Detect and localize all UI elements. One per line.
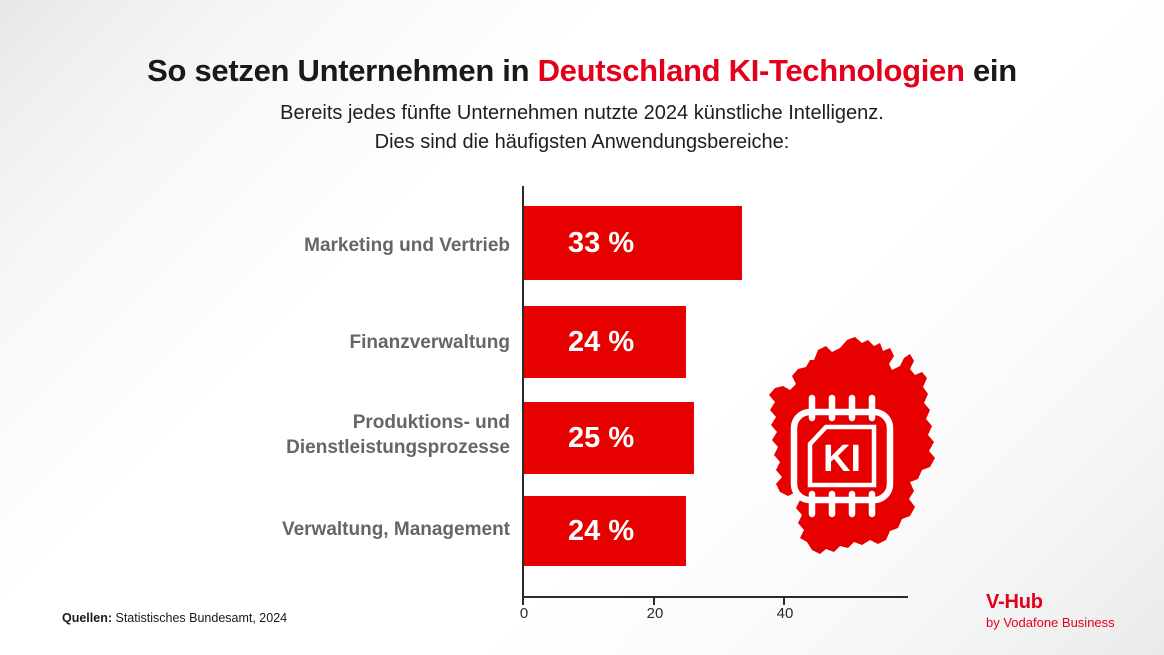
germany-map-ai-chip-illustration: KI bbox=[752, 334, 948, 569]
bar-value-verwaltung-management: 24 % bbox=[568, 515, 634, 548]
bar-value-finanzverwaltung: 24 % bbox=[568, 326, 634, 359]
logo-title: V-Hub bbox=[986, 591, 1136, 614]
bar-label-finanzverwaltung: Finanzverwaltung bbox=[350, 330, 510, 355]
bar-label-produktions-und-dienstleistungsprozesse: Produktions- und Dienstleistungsprozesse bbox=[286, 410, 510, 460]
bar-label-verwaltung-management: Verwaltung, Management bbox=[282, 517, 510, 542]
source-text: Statistisches Bundesamt, 2024 bbox=[112, 611, 287, 625]
germany-map-icon: KI bbox=[752, 334, 948, 569]
bar-finanzverwaltung: 24 % bbox=[524, 306, 686, 378]
bar-chart: 0 20 40 Marketing und Vertrieb 33 % Fina… bbox=[0, 0, 1164, 655]
x-tick-label-40: 40 bbox=[777, 605, 794, 622]
bar-produktions-und-dienstleistungsprozesse: 25 % bbox=[524, 402, 694, 474]
bar-marketing-und-vertrieb: 33 % bbox=[524, 206, 742, 280]
source-label: Quellen: bbox=[62, 611, 112, 625]
bar-value-produktions-und-dienstleistungsprozesse: 25 % bbox=[568, 422, 634, 455]
x-tick-label-0: 0 bbox=[520, 605, 528, 622]
ai-chip-label: KI bbox=[823, 438, 861, 480]
logo-subtitle: by Vodafone Business bbox=[986, 614, 1136, 631]
infographic-canvas: So setzen Unternehmen in Deutschland KI-… bbox=[0, 0, 1164, 655]
vhub-logo: V-Hub by Vodafone Business bbox=[986, 591, 1136, 631]
source-citation: Quellen: Statistisches Bundesamt, 2024 bbox=[62, 611, 287, 625]
x-tick-20 bbox=[653, 596, 655, 605]
bar-value-marketing-und-vertrieb: 33 % bbox=[568, 227, 634, 260]
bar-label-marketing-und-vertrieb: Marketing und Vertrieb bbox=[304, 233, 510, 258]
x-tick-40 bbox=[783, 596, 785, 605]
x-tick-label-20: 20 bbox=[647, 605, 664, 622]
x-tick-0 bbox=[522, 596, 524, 605]
bar-verwaltung-management: 24 % bbox=[524, 496, 686, 566]
x-axis-line bbox=[522, 596, 908, 598]
